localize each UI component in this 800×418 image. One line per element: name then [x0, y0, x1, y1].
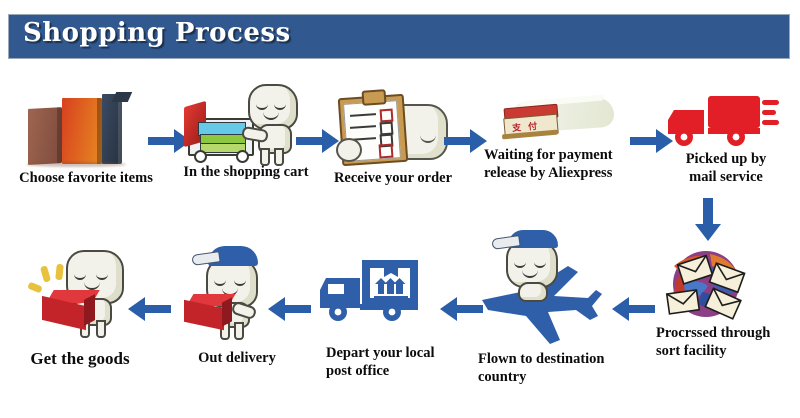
arrow-down-1	[694, 198, 722, 242]
step-label: In the shopping cart	[172, 164, 320, 181]
step-receive-order[interactable]: Receive your order	[334, 88, 450, 166]
step-label: Choose favorite items	[10, 170, 162, 187]
arrow-right-3	[444, 128, 488, 154]
step-flown[interactable]: Flown to destination country	[464, 232, 604, 332]
arrow-left-2	[440, 296, 484, 322]
books-icon	[10, 92, 140, 164]
step-label: Flown to destination country	[478, 350, 650, 386]
delivery-character-icon	[186, 246, 282, 342]
blue-truck-icon	[318, 258, 436, 328]
happy-character-icon	[22, 244, 132, 344]
airplane-character-icon	[464, 232, 604, 332]
step-out-delivery[interactable]: Out delivery	[186, 246, 282, 342]
title-banner: Shopping Process	[8, 14, 790, 59]
payment-stamp-icon: 支 付	[486, 96, 626, 152]
step-depart-post[interactable]: Depart your local post office	[318, 258, 436, 328]
step-label: Waiting for payment release by Aliexpres…	[484, 146, 654, 182]
page-title: Shopping Process	[23, 18, 291, 48]
step-sort-facility[interactable]: Procrssed through sort facility	[650, 248, 800, 322]
step-label: Out delivery	[178, 350, 296, 367]
step-get-goods[interactable]: Get the goods	[22, 244, 132, 344]
clipboard-icon	[334, 88, 450, 166]
step-label: Depart your local post office	[326, 344, 476, 380]
step-label: Receive your order	[322, 170, 464, 187]
step-payment-wait[interactable]: 支 付 Waiting for payment release by Aliex…	[486, 96, 626, 152]
step-label: Procrssed through sort facility	[656, 324, 800, 360]
step-shopping-cart[interactable]: In the shopping cart	[186, 84, 306, 166]
shopping-process-infographic: Shopping Process Choose favorite items	[0, 0, 800, 418]
step-label: Picked up by mail service	[664, 150, 788, 186]
globe-mail-icon	[650, 248, 800, 322]
arrow-left-4	[128, 296, 172, 322]
cart-character-icon	[186, 84, 306, 166]
arrow-left-1	[612, 296, 656, 322]
step-picked-up[interactable]: Picked up by mail service	[664, 92, 780, 152]
step-label: Get the goods	[10, 350, 150, 367]
red-truck-icon	[664, 92, 780, 152]
step-choose-items[interactable]: Choose favorite items	[10, 92, 140, 164]
